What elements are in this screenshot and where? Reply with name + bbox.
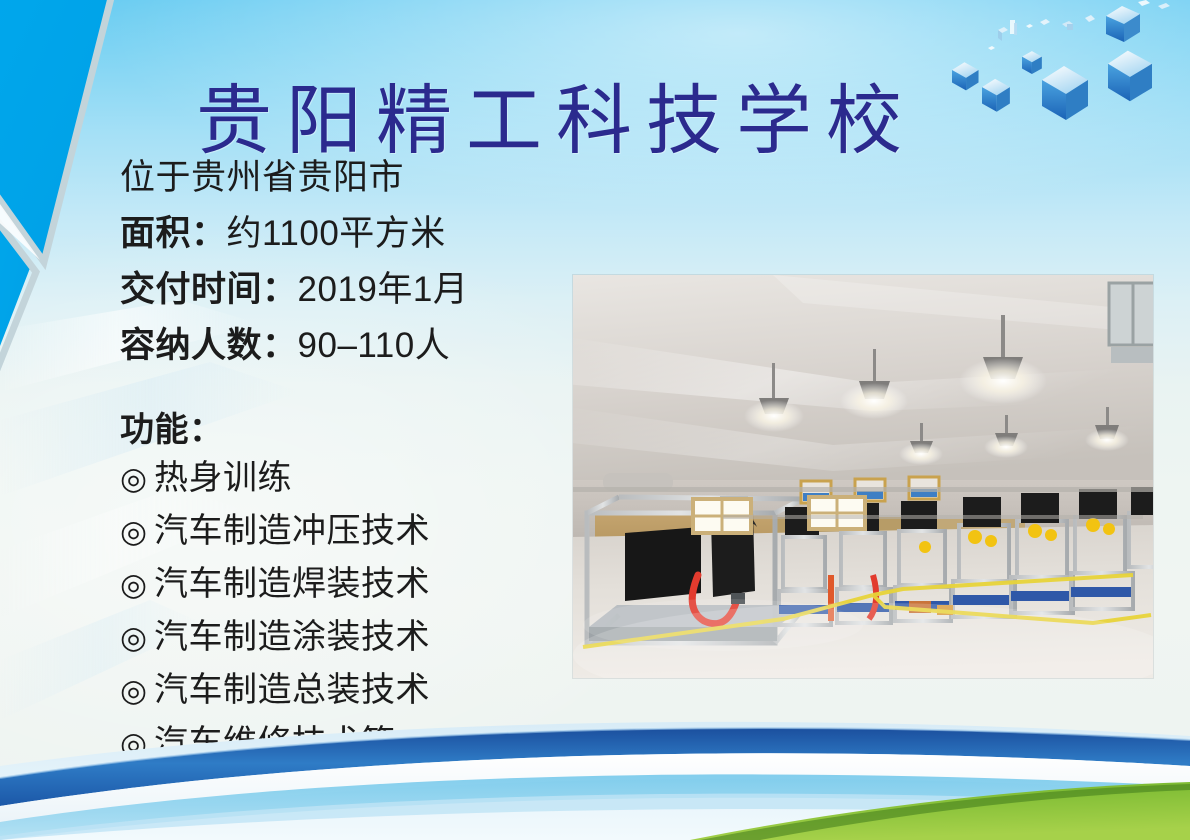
info-capacity-label: 容纳人数： [120, 326, 298, 365]
list-item: ◎汽车维修技术等 [120, 717, 590, 770]
info-delivery: 交付时间：2019年1月 [120, 262, 590, 318]
list-item-label: 汽车制造冲压技术 [154, 512, 430, 550]
list-item: ◎汽车制造总装技术 [120, 664, 590, 717]
info-capacity-value: 90–110人 [298, 326, 451, 365]
double-circle-bullet-icon: ◎ [120, 611, 154, 664]
list-item: ◎热身训练 [120, 452, 590, 505]
info-area-value: 约1100平方米 [227, 214, 446, 253]
double-circle-bullet-icon: ◎ [120, 664, 154, 717]
double-circle-bullet-icon: ◎ [120, 505, 154, 558]
list-item: ◎汽车制造冲压技术 [120, 505, 590, 558]
list-item: ◎汽车制造焊装技术 [120, 558, 590, 611]
info-area-label: 面积： [120, 214, 227, 253]
info-delivery-value: 2019年1月 [298, 270, 469, 309]
list-item-label: 汽车制造总装技术 [154, 671, 430, 709]
info-block: 位于贵州省贵阳市 面积：约1100平方米 交付时间：2019年1月 容纳人数：9… [120, 150, 590, 374]
functions-heading: 功能： [120, 402, 224, 451]
list-item-label: 汽车制造涂装技术 [154, 618, 430, 656]
info-delivery-label: 交付时间： [120, 270, 298, 309]
slide-root: 贵阳精工科技学校 位于贵州省贵阳市 面积：约1100平方米 交付时间：2019年… [0, 0, 1190, 840]
double-circle-bullet-icon: ◎ [120, 717, 154, 770]
list-item-label: 汽车维修技术等 [154, 724, 396, 762]
info-location: 位于贵州省贵阳市 [120, 150, 590, 206]
workshop-photo: 实训车间内景照片 [573, 275, 1153, 678]
list-item-label: 热身训练 [154, 459, 292, 497]
list-item-label: 汽车制造焊装技术 [154, 565, 430, 603]
double-circle-bullet-icon: ◎ [120, 452, 154, 505]
list-item: ◎汽车制造涂装技术 [120, 611, 590, 664]
double-circle-bullet-icon: ◎ [120, 558, 154, 611]
info-capacity: 容纳人数：90–110人 [120, 318, 590, 374]
functions-list: ◎热身训练 ◎汽车制造冲压技术 ◎汽车制造焊装技术 ◎汽车制造涂装技术 ◎汽车制… [120, 452, 590, 770]
info-area: 面积：约1100平方米 [120, 206, 590, 262]
